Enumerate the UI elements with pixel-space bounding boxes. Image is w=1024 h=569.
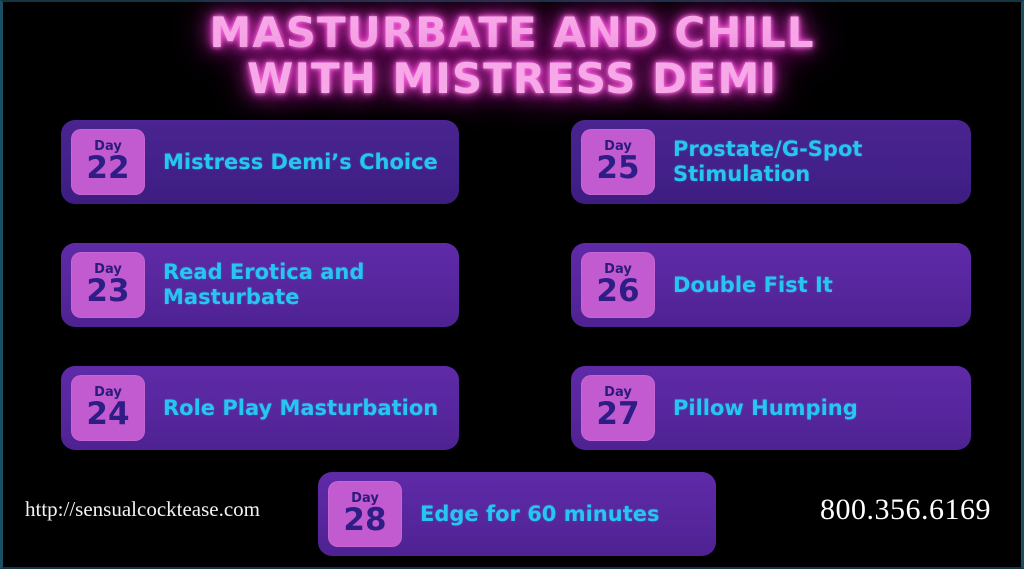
day-card-23[interactable]: Day 23 Read Erotica and Masturbate <box>61 243 459 327</box>
day-card-label: Pillow Humping <box>673 396 868 421</box>
day-badge: Day 26 <box>581 252 655 318</box>
phone-number[interactable]: 800.356.6169 <box>820 493 991 527</box>
day-card-label: Double Fist It <box>673 273 843 298</box>
page-title-line-2: WITH MISTRESS DEMI <box>3 56 1021 102</box>
day-badge: Day 23 <box>71 252 145 318</box>
day-badge: Day 24 <box>71 375 145 441</box>
page-title-line-1: MASTURBATE AND CHILL <box>3 10 1021 56</box>
day-badge-number: 24 <box>86 398 129 431</box>
day-card-25[interactable]: Day 25 Prostate/G-Spot Stimulation <box>571 120 971 204</box>
day-badge: Day 25 <box>581 129 655 195</box>
day-badge-number: 25 <box>596 152 639 185</box>
day-badge: Day 27 <box>581 375 655 441</box>
page-title: MASTURBATE AND CHILL WITH MISTRESS DEMI <box>3 10 1021 102</box>
poster-canvas: MASTURBATE AND CHILL WITH MISTRESS DEMI … <box>0 0 1024 569</box>
day-card-label: Prostate/G-Spot Stimulation <box>673 137 971 187</box>
day-badge-number: 23 <box>86 275 129 308</box>
day-badge-number: 27 <box>596 398 639 431</box>
day-card-22[interactable]: Day 22 Mistress Demi’s Choice <box>61 120 459 204</box>
day-card-27[interactable]: Day 27 Pillow Humping <box>571 366 971 450</box>
day-card-label: Read Erotica and Masturbate <box>163 260 459 310</box>
day-badge-number: 22 <box>86 152 129 185</box>
day-badge-number: 28 <box>343 504 386 537</box>
day-badge: Day 28 <box>328 481 402 547</box>
day-card-label: Mistress Demi’s Choice <box>163 150 448 175</box>
day-card-28[interactable]: Day 28 Edge for 60 minutes <box>318 472 716 556</box>
day-card-26[interactable]: Day 26 Double Fist It <box>571 243 971 327</box>
day-card-label: Edge for 60 minutes <box>420 502 670 527</box>
day-badge-number: 26 <box>596 275 639 308</box>
website-url[interactable]: http://sensualcocktease.com <box>25 497 260 522</box>
day-card-24[interactable]: Day 24 Role Play Masturbation <box>61 366 459 450</box>
day-card-label: Role Play Masturbation <box>163 396 448 421</box>
day-badge: Day 22 <box>71 129 145 195</box>
